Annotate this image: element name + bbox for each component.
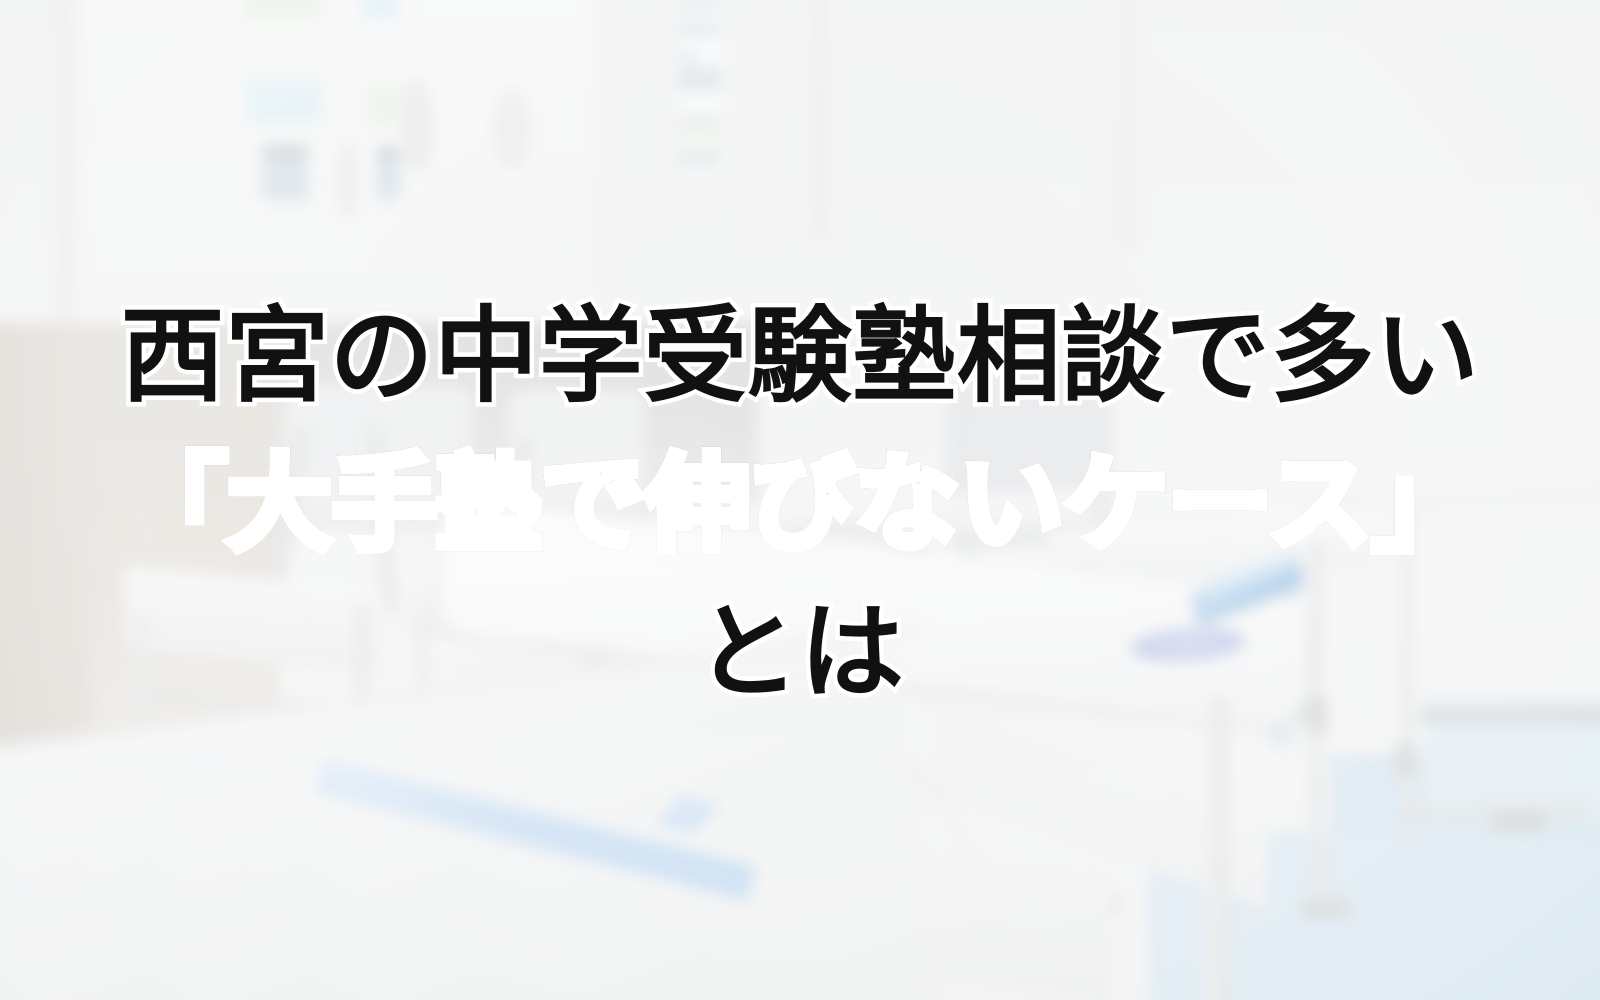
blue-disc-rim [1139,633,1237,654]
main-desk-screw [1183,822,1193,832]
wall-shape [493,89,530,170]
board-note-grey [377,146,400,161]
header-image-canvas: 西宮の中学受験塾相談で多い 「大手塾で伸びないケース」 とは [0,0,1600,1000]
wall-panel-edge [60,0,79,334]
wall-shape [337,141,358,219]
wall-panel-edge [1096,0,1138,250]
wall-shape [403,79,432,173]
far-desk-knob [1395,744,1418,777]
wall-panel-edge [812,0,827,240]
right-desk-foot [1301,900,1349,918]
board-note-green [244,0,322,22]
board-note-blue [361,0,397,20]
beige-wall-panel [0,323,93,760]
right-desk-knob [1305,698,1328,733]
main-desk-leg [1206,698,1229,1000]
main-desk-screw [1169,802,1186,819]
wall-panel-edge [758,0,766,250]
board-note-blue [247,80,323,124]
board-note-grey [262,144,308,159]
far-desk-leg [1401,505,1413,838]
far-desk-foot [1492,812,1546,831]
floor-edge [1419,708,1600,723]
wall-poster [678,0,725,169]
background-photo [0,0,1600,1000]
board-note-green [366,85,406,127]
